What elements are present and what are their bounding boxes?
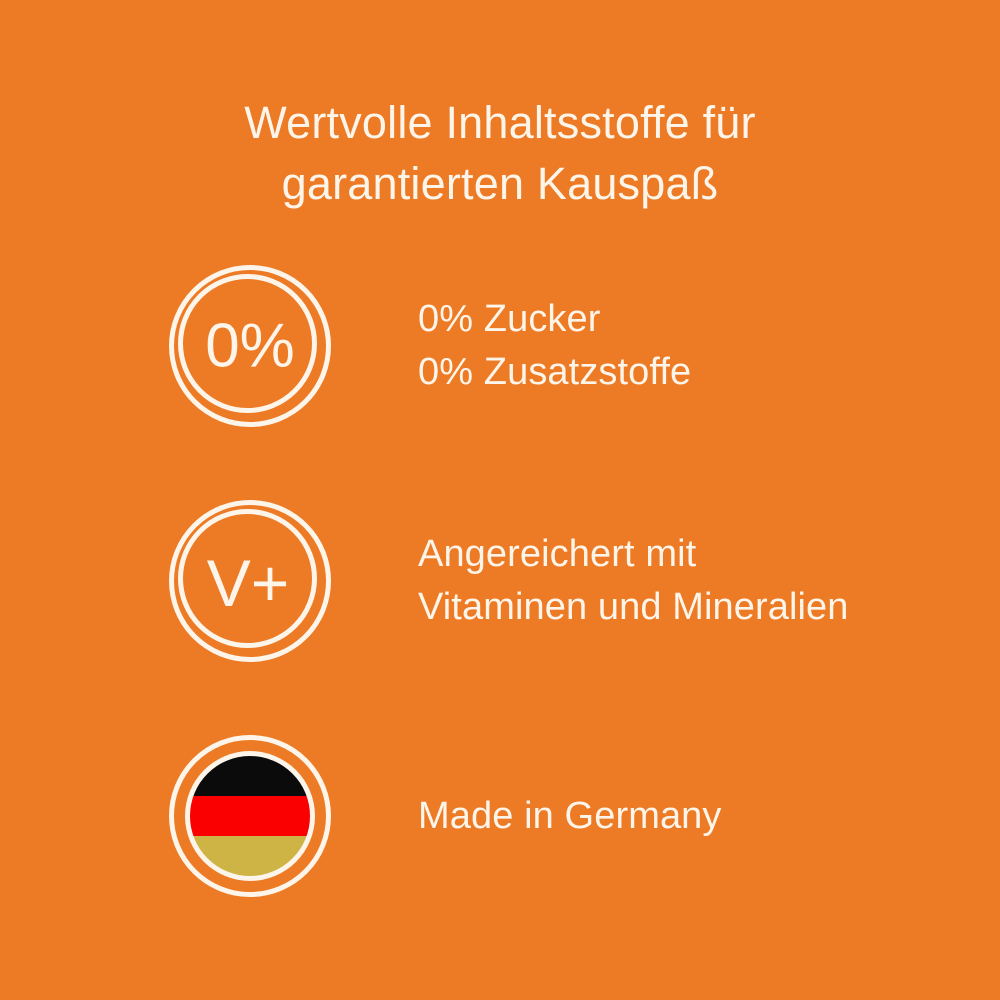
flag-stripe-red <box>190 796 310 836</box>
page-title-line-2: garantierten Kauspaß <box>0 153 1000 214</box>
feature-line-2: 0% Zusatzstoffe <box>418 346 691 399</box>
flag-stripe-black <box>190 756 310 796</box>
feature-list: 0% 0% Zucker 0% Zusatzstoffe V+ Angereic… <box>0 264 1000 898</box>
feature-text-made-in-germany: Made in Germany <box>418 734 722 898</box>
feature-line-1: Angereichert mit <box>418 528 849 581</box>
german-flag-badge-icon <box>168 734 332 898</box>
feature-text-zero-percent: 0% Zucker 0% Zusatzstoffe <box>418 264 691 428</box>
feature-item-vitamins: V+ Angereichert mit Vitaminen und Minera… <box>0 499 1000 663</box>
vitamin-plus-badge-label: V+ <box>207 546 290 620</box>
vitamin-plus-badge-icon: V+ <box>168 499 332 663</box>
flag-stripe-gold <box>190 836 310 876</box>
feature-item-made-in-germany: Made in Germany <box>0 734 1000 898</box>
product-benefits-poster: Wertvolle Inhaltsstoffe für garantierten… <box>0 0 1000 1000</box>
page-title-line-1: Wertvolle Inhaltsstoffe für <box>0 92 1000 153</box>
feature-line-1: Made in Germany <box>418 790 722 843</box>
page-title: Wertvolle Inhaltsstoffe für garantierten… <box>0 92 1000 214</box>
feature-text-vitamins: Angereichert mit Vitaminen und Mineralie… <box>418 499 849 663</box>
flag-stripes <box>190 756 310 876</box>
zero-percent-badge-icon: 0% <box>168 264 332 428</box>
feature-item-zero-percent: 0% 0% Zucker 0% Zusatzstoffe <box>0 264 1000 428</box>
feature-line-2: Vitaminen und Mineralien <box>418 581 849 634</box>
feature-line-1: 0% Zucker <box>418 293 691 346</box>
zero-percent-badge-label: 0% <box>205 312 295 381</box>
